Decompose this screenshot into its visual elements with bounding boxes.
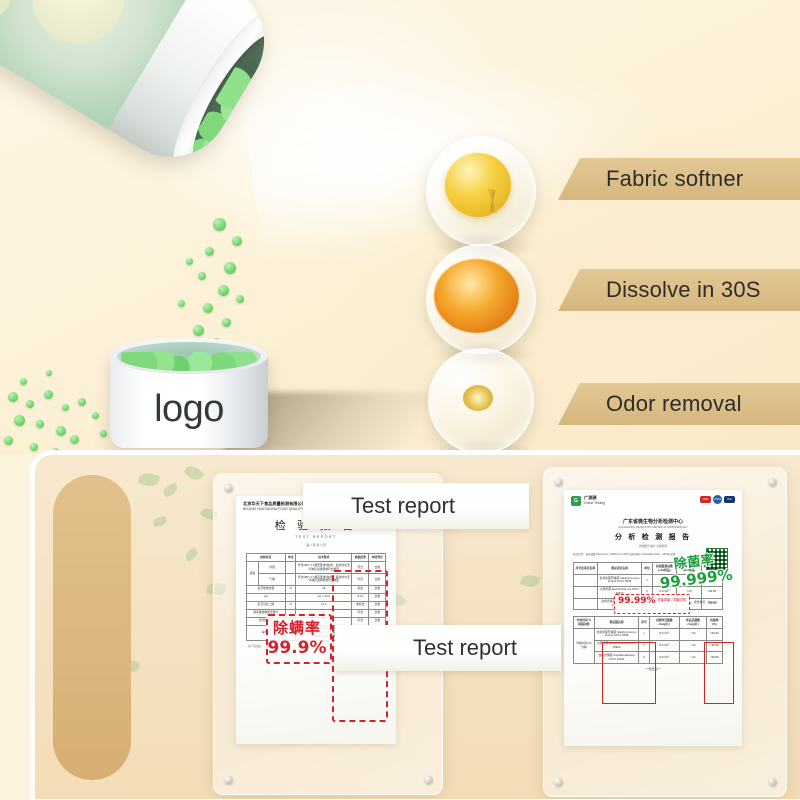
table-row: pH - pH 7-10.5 8.41 合格 bbox=[246, 593, 386, 601]
unit-note: 报告编号：BTVOC bbox=[694, 600, 718, 604]
col-item: 检验项目 bbox=[246, 554, 285, 562]
tube-body: 浓香留久柔顺珠 CLOTHING SCENT BOOSTER bbox=[0, 0, 286, 179]
antibacterial-pct: 99.99%抗菌抑菌 / 抑菌试验 bbox=[618, 596, 686, 606]
cup-logo-text: logo bbox=[110, 390, 268, 428]
feature-banner-odor-removal[interactable]: Odor removal bbox=[558, 383, 800, 425]
badge-iso-icon: ISO bbox=[724, 496, 735, 503]
feature-banner-fabric-softner[interactable]: Fabric softner bbox=[558, 158, 800, 200]
beads-in-cup bbox=[121, 352, 257, 371]
feature-label: Fabric softner bbox=[606, 166, 743, 192]
badge-cnas-icon: CNAS bbox=[713, 495, 722, 504]
right-report-title-cn: 分 析 检 测 报 告 bbox=[564, 532, 742, 542]
red-box-rate-column bbox=[704, 642, 734, 704]
table-row: 感官 外观 - 符合GB/T 1.1规定要求(粒状)，颜色均匀无异味及试验要求符… bbox=[246, 562, 386, 574]
right-report-brand: G 广测源 Grand Testing bbox=[571, 495, 605, 506]
col-unit: 单位 bbox=[286, 554, 296, 562]
right-report-center-cn: 广东省微生物分析检测中心 bbox=[564, 518, 742, 525]
oil-drop-jar-icon bbox=[426, 136, 532, 242]
mite-removal-value: 99.9% bbox=[268, 638, 327, 658]
table-header-row: 检验项目 单位 技术要求 检验结果 单项判定 bbox=[246, 554, 386, 562]
left-report-meta: 第 1 页 共 1 页 bbox=[236, 543, 396, 547]
col-verdict: 单项判定 bbox=[369, 554, 386, 562]
right-report-center-en: GUANGDONG DETECTION CENTER OF MICROBIOLO… bbox=[564, 526, 742, 529]
feature-banner-dissolve[interactable]: Dissolve in 30S bbox=[558, 269, 800, 311]
grand-testing-logo-icon: G bbox=[571, 496, 581, 506]
table-row: 总活性物含量 % ≥8 检出 合格 bbox=[246, 585, 386, 593]
feature-label: Odor removal bbox=[606, 391, 742, 417]
right-report-badges: CMA CNAS ISO bbox=[700, 495, 735, 504]
callout-test-report-left[interactable]: Test report bbox=[303, 483, 529, 529]
antibacterial-pct-note: 抗菌抑菌 / 抑菌试验 bbox=[658, 599, 687, 603]
brand-names: 广测源 Grand Testing bbox=[584, 495, 605, 506]
left-report-title-en: TEST REPORT bbox=[236, 535, 396, 539]
feature-label: Dissolve in 30S bbox=[606, 277, 761, 303]
callout-label: Test report bbox=[351, 493, 455, 519]
col-requirement: 技术要求 bbox=[296, 554, 352, 562]
table-row: 气味 - 符合GB/T 1.1规定要求(粒状)，颜色均匀无异味及试验要求符合规定… bbox=[246, 574, 386, 586]
citrus-jar-icon bbox=[426, 244, 532, 350]
mite-removal-label: 除螨率 bbox=[273, 617, 321, 638]
left-report-paper: 北京华天下食品质量检测有限公司 BEIJING HUATIANXIA FOOD … bbox=[236, 496, 396, 744]
top-product-scene: 浓香留久柔顺珠 CLOTHING SCENT BOOSTER bbox=[0, 0, 800, 455]
red-box-species-column bbox=[602, 642, 656, 704]
product-tube: 浓香留久柔顺珠 CLOTHING SCENT BOOSTER bbox=[0, 0, 355, 345]
jar-citrus-slice bbox=[434, 259, 519, 333]
measuring-cup: logo bbox=[110, 338, 268, 448]
cup-interior bbox=[117, 342, 261, 371]
label-orb-small bbox=[0, 0, 26, 36]
table-row: 作用时间 20分钟 金黄色葡萄球菌 Staphylococcus aureus … bbox=[574, 629, 723, 641]
side-accent-bar bbox=[53, 475, 131, 780]
table-header-row: 作用时间 % 抑菌对照 测试菌名称 序号 对照样活菌数 cfu/g(片) 样品活… bbox=[574, 617, 723, 629]
right-report-frame[interactable]: G 广测源 Grand Testing CMA CNAS ISO 广东省微生物分… bbox=[543, 467, 787, 797]
product-marketing-image: 浓香留久柔顺珠 CLOTHING SCENT BOOSTER bbox=[0, 0, 800, 800]
callout-test-report-right[interactable]: Test report bbox=[335, 625, 561, 671]
right-report-paper: G 广测源 Grand Testing CMA CNAS ISO 广东省微生物分… bbox=[564, 490, 742, 746]
clear-jar-icon bbox=[428, 348, 530, 450]
right-report-header: G 广测源 Grand Testing CMA CNAS ISO bbox=[564, 490, 742, 506]
col-result: 检验结果 bbox=[352, 554, 369, 562]
brand-name-en: Grand Testing bbox=[584, 501, 605, 505]
mite-removal-stamp: 除螨率 99.9% bbox=[266, 614, 328, 660]
table-row: 总五氧化二磷 % ≤1.1 未检出 合格 bbox=[246, 601, 386, 609]
antibacterial-pct-value: 99.99% bbox=[618, 596, 656, 606]
badge-cma-icon: CMA bbox=[700, 496, 711, 503]
callout-label: Test report bbox=[413, 635, 517, 661]
